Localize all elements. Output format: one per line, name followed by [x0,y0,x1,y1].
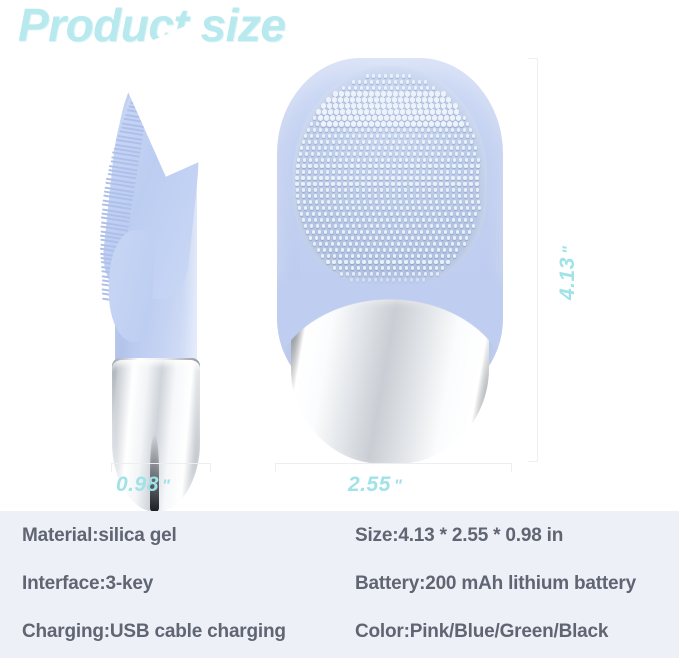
dimension-bracket-height [528,58,538,462]
spec-row: Material:silica gel Size:4.13 * 2.55 * 0… [0,525,679,565]
dimension-value-width: 2.55 [348,473,391,496]
spec-size: Size:4.13 * 2.55 * 0.98 in [355,525,563,547]
spec-interface: Interface:3-key [22,573,153,595]
spec-color: Color:Pink/Blue/Green/Black [355,621,608,643]
front-view-brush-head-bristles-icon [293,66,487,288]
dimension-label-width: 2.55" [348,473,402,497]
spec-material: Material:silica gel [22,525,177,547]
dimension-label-depth: 0.98" [116,473,170,497]
product-front-view [277,58,503,468]
dimension-unit-width: " [391,476,403,495]
specifications-panel: Material:silica gel Size:4.13 * 2.55 * 0… [0,511,679,658]
dimension-value-depth: 0.98 [116,473,159,496]
dimension-unit-height: " [559,246,578,258]
dimension-value-height: 4.13 [556,257,579,300]
dimension-bracket-width [275,463,512,472]
product-side-view [101,60,211,510]
dimension-bracket-depth [111,463,211,472]
spec-row: Interface:3-key Battery:200 mAh lithium … [0,573,679,613]
dimension-unit-depth: " [159,476,171,495]
front-view-skirt [277,272,503,398]
spec-row: Charging:USB cable charging Color:Pink/B… [0,621,679,661]
product-image-stage: 0.98" 2.55" 4.13" [0,50,679,511]
spec-charging: Charging:USB cable charging [22,621,286,643]
spec-battery: Battery:200 mAh lithium battery [355,573,636,595]
dimension-label-height: 4.13" [556,246,580,300]
